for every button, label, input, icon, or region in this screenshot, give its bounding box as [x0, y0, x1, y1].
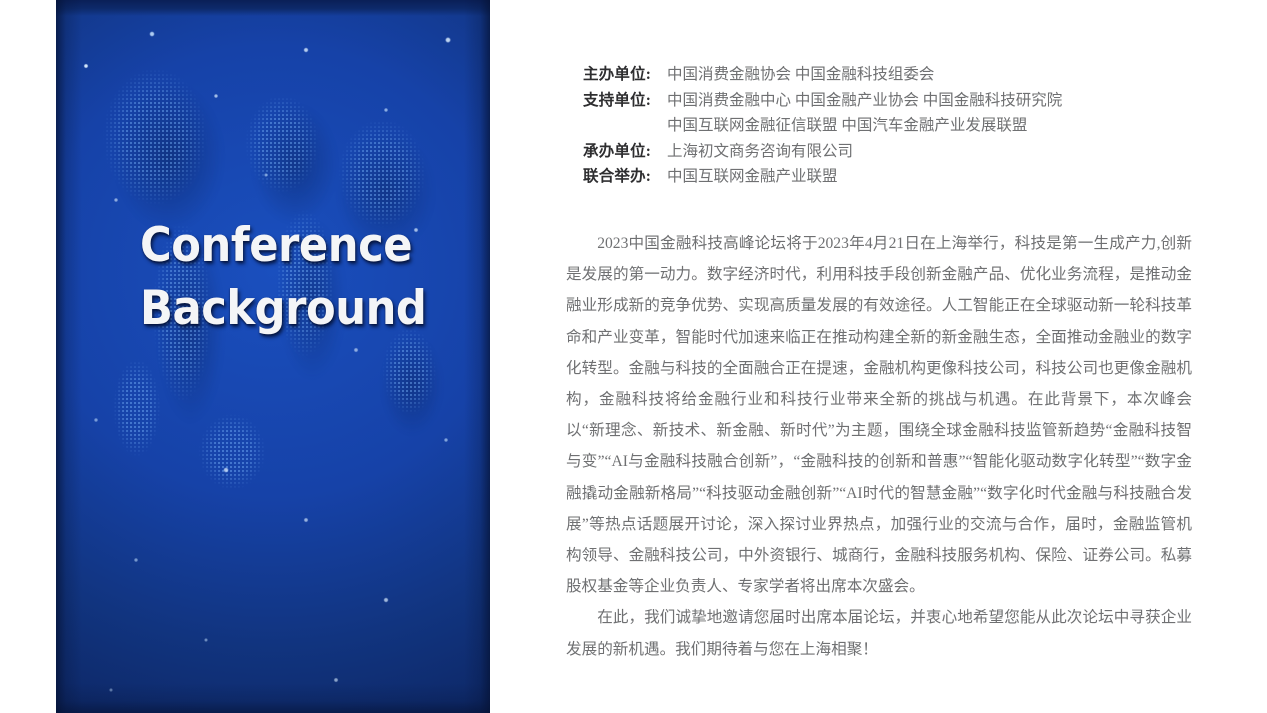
organizer-row: 支持单位: 中国消费金融中心 中国金融产业协会 中国金融科技研究院 — [583, 88, 1183, 114]
organizer-value: 中国消费金融中心 中国金融产业协会 中国金融科技研究院 — [667, 88, 1062, 114]
organizer-value: 中国消费金融协会 中国金融科技组委会 — [667, 62, 934, 88]
organizer-label: 联合举办: — [583, 164, 667, 190]
organizer-value: 中国互联网金融产业联盟 — [667, 164, 838, 190]
panel-edge-vignette — [56, 0, 490, 713]
organizer-row: 联合举办: 中国互联网金融产业联盟 — [583, 164, 1183, 190]
organizer-value: 中国互联网金融征信联盟 中国汽车金融产业发展联盟 — [667, 113, 1027, 139]
organizer-row: 主办单位: 中国消费金融协会 中国金融科技组委会 — [583, 62, 1183, 88]
body-paragraph: 在此，我们诚挚地邀请您届时出席本届论坛，并衷心地希望您能从此次论坛中寻获企业发展… — [566, 602, 1192, 664]
cover-panel: Conference Background — [56, 0, 490, 713]
organizer-label: 主办单位: — [583, 62, 667, 88]
content-column: 主办单位: 中国消费金融协会 中国金融科技组委会 支持单位: 中国消费金融中心 … — [566, 0, 1192, 713]
organizer-value: 上海初文商务咨询有限公司 — [667, 139, 853, 165]
organizers-block: 主办单位: 中国消费金融协会 中国金融科技组委会 支持单位: 中国消费金融中心 … — [583, 62, 1183, 190]
cover-title: Conference Background — [140, 214, 462, 340]
body-paragraph: 2023中国金融科技高峰论坛将于2023年4月21日在上海举行，科技是第一生成产… — [566, 228, 1192, 602]
organizer-row: 承办单位: 上海初文商务咨询有限公司 — [583, 139, 1183, 165]
body-text-block: 2023中国金融科技高峰论坛将于2023年4月21日在上海举行，科技是第一生成产… — [566, 228, 1192, 665]
organizer-label: 承办单位: — [583, 139, 667, 165]
organizer-label: 支持单位: — [583, 88, 667, 114]
organizer-row-continuation: 支持单位: 中国互联网金融征信联盟 中国汽车金融产业发展联盟 — [583, 113, 1183, 139]
